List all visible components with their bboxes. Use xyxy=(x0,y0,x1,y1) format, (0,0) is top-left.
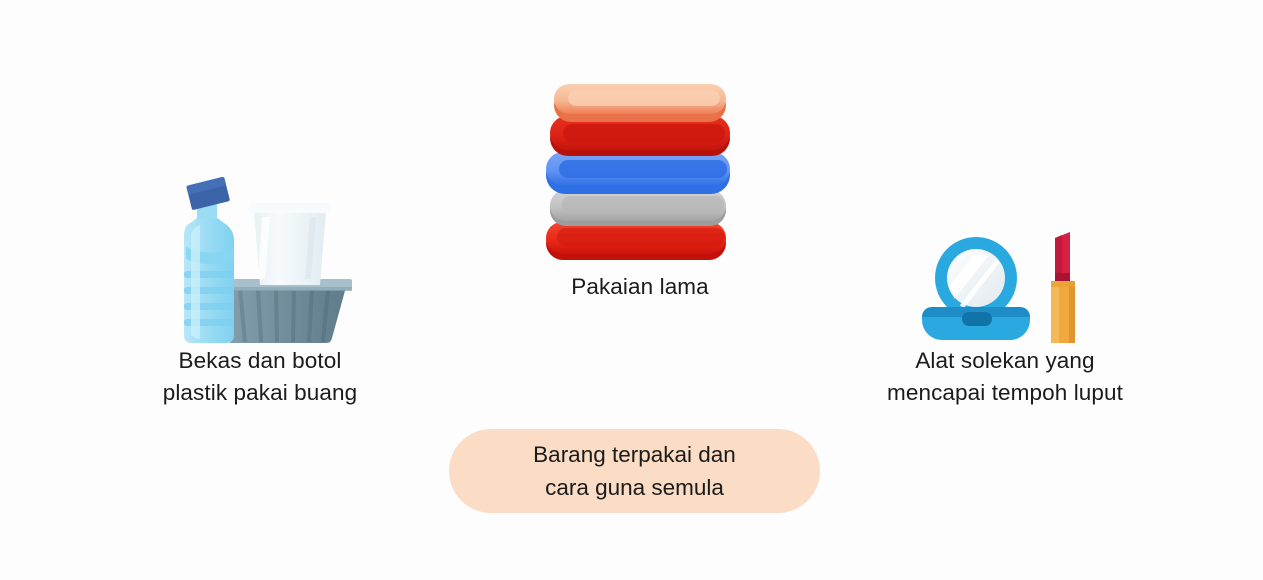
caption-clothes: Pakaian lama xyxy=(571,271,709,303)
item-clothes: Pakaian lama xyxy=(500,78,780,303)
lipstick-shape xyxy=(1051,232,1075,343)
bottle-cap-shape xyxy=(186,177,230,211)
item-cosmetics: Alat solekan yang mencapai tempoh luput xyxy=(860,230,1150,409)
folded-item-blue xyxy=(546,152,730,194)
plastic-bottle-shape xyxy=(184,177,234,343)
plastic-cup-shape xyxy=(249,203,331,285)
folded-item-peach xyxy=(554,84,726,122)
infographic-canvas: Bekas dan botol plastik pakai buang xyxy=(0,0,1263,580)
folded-item-red-2 xyxy=(546,222,726,260)
folded-clothes-stack-icon xyxy=(540,78,740,263)
summary-pill-text: Barang terpakai dan cara guna semula xyxy=(533,438,736,504)
plastic-bottle-cup-tray-icon xyxy=(150,175,370,345)
folded-item-gray xyxy=(550,190,726,226)
caption-cosmetics: Alat solekan yang mencapai tempoh luput xyxy=(887,345,1123,409)
caption-plastics: Bekas dan botol plastik pakai buang xyxy=(163,345,358,409)
mirror-lipstick-icon xyxy=(918,230,1093,345)
item-plastics: Bekas dan botol plastik pakai buang xyxy=(120,175,400,409)
summary-pill: Barang terpakai dan cara guna semula xyxy=(449,429,820,513)
compact-mirror-shape xyxy=(921,236,1029,340)
